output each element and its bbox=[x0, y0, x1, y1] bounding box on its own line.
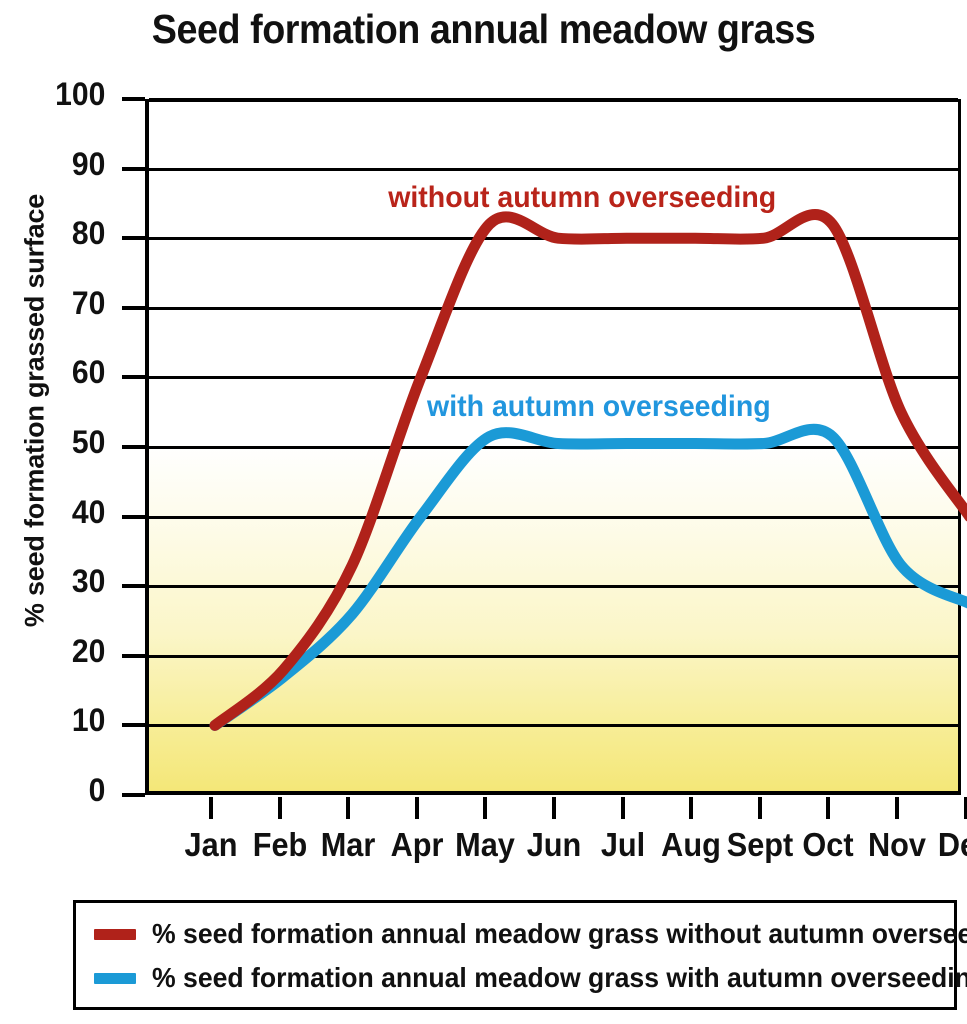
y-tick-mark-40 bbox=[122, 515, 145, 519]
x-tick-mark-jan bbox=[209, 797, 213, 819]
y-tick-mark-60 bbox=[122, 375, 145, 379]
x-tick-mark-oct bbox=[826, 797, 830, 819]
y-tick-mark-90 bbox=[122, 167, 145, 171]
x-tick-mark-aug bbox=[689, 797, 693, 819]
y-tick-mark-30 bbox=[122, 584, 145, 588]
y-tick-label-10: 10 bbox=[21, 702, 106, 739]
legend-swatch-blue bbox=[94, 973, 136, 984]
x-tick-label-jan: Jan bbox=[185, 826, 238, 864]
y-tick-mark-100 bbox=[122, 97, 145, 101]
y-tick-label-80: 80 bbox=[21, 215, 106, 252]
legend-label-blue: % seed formation annual meadow grass wit… bbox=[152, 962, 967, 994]
x-tick-mark-sept bbox=[758, 797, 762, 819]
x-tick-label-dec: Dec bbox=[937, 826, 967, 864]
chart-root: Seed formation annual meadow grass % see… bbox=[0, 0, 967, 1024]
legend-swatch-red bbox=[94, 929, 136, 940]
x-tick-mark-may bbox=[483, 797, 487, 819]
annotation-without-overseeding: without autumn overseeding bbox=[388, 181, 776, 215]
y-tick-label-100: 100 bbox=[21, 76, 106, 113]
y-tick-label-50: 50 bbox=[21, 424, 106, 461]
x-axis-labels: JanFebMarAprMayJunJulAugSeptOctNovDec bbox=[145, 826, 961, 872]
y-tick-mark-50 bbox=[122, 445, 145, 449]
x-tick-label-oct: Oct bbox=[803, 826, 854, 864]
x-tick-mark-mar bbox=[346, 797, 350, 819]
legend-item-without-overseeding: % seed formation annual meadow grass wit… bbox=[94, 912, 967, 956]
y-tick-mark-10 bbox=[122, 723, 145, 727]
x-tick-mark-nov bbox=[895, 797, 899, 819]
x-tick-mark-jul bbox=[621, 797, 625, 819]
legend: % seed formation annual meadow grass wit… bbox=[73, 900, 957, 1010]
x-tick-label-aug: Aug bbox=[661, 826, 721, 864]
series-line-with-overseeding bbox=[215, 429, 967, 725]
x-tick-label-jul: Jul bbox=[600, 826, 644, 864]
x-tick-label-feb: Feb bbox=[252, 826, 307, 864]
annotation-with-overseeding: with autumn overseeding bbox=[427, 390, 771, 424]
y-tick-label-90: 90 bbox=[21, 146, 106, 183]
x-tick-label-mar: Mar bbox=[321, 826, 376, 864]
x-tick-label-jun: Jun bbox=[527, 826, 582, 864]
x-tick-label-may: May bbox=[456, 826, 516, 864]
y-tick-label-60: 60 bbox=[21, 354, 106, 391]
x-tick-label-sept: Sept bbox=[727, 826, 794, 864]
y-tick-label-70: 70 bbox=[21, 285, 106, 322]
x-tick-mark-apr bbox=[415, 797, 419, 819]
y-tick-mark-0 bbox=[122, 793, 145, 797]
x-tick-label-apr: Apr bbox=[390, 826, 443, 864]
y-tick-label-40: 40 bbox=[21, 494, 106, 531]
y-tick-label-20: 20 bbox=[21, 633, 106, 670]
y-tick-mark-70 bbox=[122, 306, 145, 310]
y-tick-label-30: 30 bbox=[21, 563, 106, 600]
y-tick-mark-80 bbox=[122, 236, 145, 240]
legend-item-with-overseeding: % seed formation annual meadow grass wit… bbox=[94, 956, 967, 1000]
x-tick-mark-jun bbox=[552, 797, 556, 819]
x-tick-mark-feb bbox=[278, 797, 282, 819]
y-tick-mark-20 bbox=[122, 654, 145, 658]
x-tick-mark-dec bbox=[964, 797, 967, 819]
x-tick-label-nov: Nov bbox=[868, 826, 926, 864]
y-tick-label-0: 0 bbox=[21, 772, 106, 809]
legend-label-red: % seed formation annual meadow grass wit… bbox=[152, 918, 967, 950]
page-title: Seed formation annual meadow grass bbox=[39, 6, 929, 53]
